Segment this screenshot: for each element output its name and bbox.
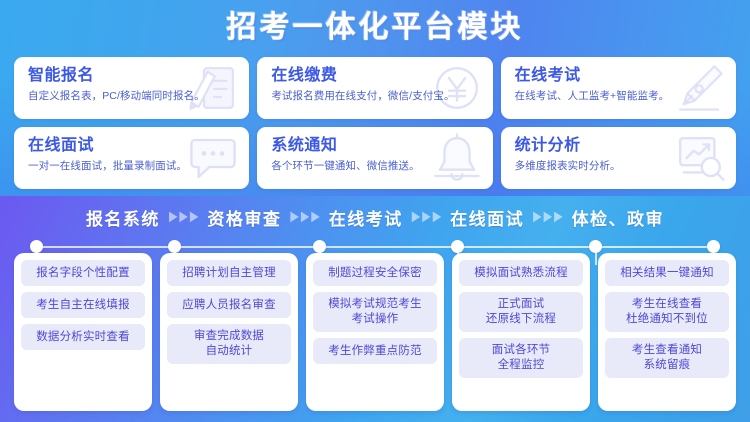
- feature-desc: 自定义报名表，PC/移动端同时报名。: [28, 89, 237, 103]
- process-step-row: 报名系统 ▶▶▶ 资格审查 ▶▶▶ 在线考试 ▶▶▶ 在线面试 ▶▶▶ 体检、政…: [0, 198, 750, 236]
- arrow-right-icon: ▶▶▶: [169, 212, 198, 223]
- detail-chip[interactable]: 模拟面试熟悉流程: [459, 260, 583, 286]
- detail-chip[interactable]: 招聘计划自主管理: [167, 260, 291, 286]
- feature-title: 在线缴费: [271, 66, 480, 86]
- page-title: 招考一体化平台模块: [227, 8, 524, 48]
- timeline-dot: [707, 240, 720, 253]
- feature-desc: 考试报名费用在线支付，微信/支付宝。: [271, 89, 480, 103]
- feature-desc: 一对一在线面试，批量录制面试。: [28, 159, 237, 173]
- feature-card-system-notification[interactable]: 系统通知 各个环节一键通知、微信推送。: [257, 127, 492, 189]
- feature-title: 在线考试: [515, 66, 724, 86]
- detail-column-grid: 报名字段个性配置 考生自主在线填报 数据分析实时查看 招聘计划自主管理 应聘人员…: [14, 253, 736, 411]
- detail-chip[interactable]: 制题过程安全保密: [313, 260, 437, 286]
- feature-desc: 多维度报表实时分析。: [515, 159, 724, 173]
- feature-desc: 在线考试、人工监考+智能监考。: [515, 89, 724, 103]
- detail-column-online-interview: 模拟面试熟悉流程 正式面试 还原线下流程 面试各环节 全程监控: [452, 253, 590, 411]
- process-step-label: 资格审查: [207, 205, 281, 230]
- process-step-label: 在线考试: [329, 205, 403, 230]
- detail-column-online-exam: 制题过程安全保密 模拟考试规范考生 考试操作 考生作弊重点防范: [306, 253, 444, 411]
- feature-card-online-exam[interactable]: 在线考试 在线考试、人工监考+智能监考。: [501, 57, 736, 119]
- detail-chip[interactable]: 报名字段个性配置: [21, 260, 145, 286]
- detail-column-registration: 报名字段个性配置 考生自主在线填报 数据分析实时查看: [14, 253, 152, 411]
- detail-column-qualification-review: 招聘计划自主管理 应聘人员报名审查 审查完成数据 自动统计: [160, 253, 298, 411]
- detail-chip[interactable]: 审查完成数据 自动统计: [167, 324, 291, 364]
- process-step-label: 体检、政审: [572, 205, 665, 230]
- process-step-label: 在线面试: [450, 205, 524, 230]
- detail-chip[interactable]: 考生自主在线填报: [21, 292, 145, 318]
- detail-chip[interactable]: 应聘人员报名审查: [167, 292, 291, 318]
- detail-chip[interactable]: 考生查看通知 系统留痕: [605, 338, 729, 378]
- arrow-right-icon: ▶▶▶: [290, 212, 319, 223]
- arrow-right-icon: ▶▶▶: [533, 212, 562, 223]
- feature-desc: 各个环节一键通知、微信推送。: [271, 159, 480, 173]
- feature-card-online-interview[interactable]: 在线面试 一对一在线面试，批量录制面试。: [14, 127, 249, 189]
- detail-chip[interactable]: 考生在线查看 杜绝通知不到位: [605, 292, 729, 332]
- feature-title: 系统通知: [271, 136, 480, 156]
- detail-chip[interactable]: 模拟考试规范考生 考试操作: [313, 292, 437, 332]
- detail-chip[interactable]: 正式面试 还原线下流程: [459, 292, 583, 332]
- feature-card-statistics-analysis[interactable]: 统计分析 多维度报表实时分析。: [501, 127, 736, 189]
- timeline-line: [34, 246, 716, 248]
- feature-title: 在线面试: [28, 136, 237, 156]
- detail-column-medical-political-review: 相关结果一键通知 考生在线查看 杜绝通知不到位 考生查看通知 系统留痕: [598, 253, 736, 411]
- timeline-rail: [30, 240, 720, 254]
- infographic-canvas: 招考一体化平台模块 智能报名 自定义报名表，PC/移动端同时报名。: [0, 0, 750, 422]
- feature-card-smart-registration[interactable]: 智能报名 自定义报名表，PC/移动端同时报名。: [14, 57, 249, 119]
- process-step-label: 报名系统: [86, 205, 160, 230]
- feature-title: 统计分析: [515, 136, 724, 156]
- detail-chip[interactable]: 数据分析实时查看: [21, 324, 145, 350]
- detail-chip[interactable]: 相关结果一键通知: [605, 260, 729, 286]
- feature-title: 智能报名: [28, 66, 237, 86]
- page-title-wrapper: 招考一体化平台模块: [0, 8, 750, 48]
- detail-chip[interactable]: 考生作弊重点防范: [313, 338, 437, 364]
- detail-chip[interactable]: 面试各环节 全程监控: [459, 338, 583, 378]
- feature-card-online-payment[interactable]: 在线缴费 考试报名费用在线支付，微信/支付宝。: [257, 57, 492, 119]
- arrow-right-icon: ▶▶▶: [412, 212, 441, 223]
- feature-card-grid: 智能报名 自定义报名表，PC/移动端同时报名。 在线缴费 考试报名费用在线支付，…: [14, 57, 736, 189]
